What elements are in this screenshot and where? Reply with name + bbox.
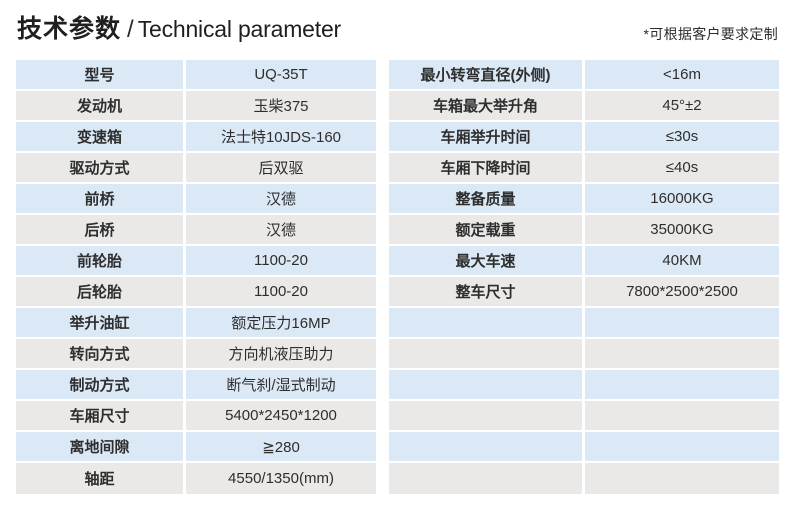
table-row: 额定载重35000KG	[389, 215, 779, 246]
table-row: 转向方式方向机液压助力	[16, 339, 376, 370]
spec-value-cell: 7800*2500*2500	[585, 277, 779, 308]
spec-label-cell: 离地间隙	[16, 432, 186, 463]
spec-value-cell: 断气刹/湿式制动	[186, 370, 376, 401]
spec-value-cell: 5400*2450*1200	[186, 401, 376, 432]
spec-label-cell: 最大车速	[389, 246, 585, 277]
table-row: 变速箱法士特10JDS-160	[16, 122, 376, 153]
spec-value-cell: 40KM	[585, 246, 779, 277]
table-row	[389, 339, 779, 370]
table-row: 驱动方式后双驱	[16, 153, 376, 184]
spec-label-cell: 转向方式	[16, 339, 186, 370]
table-row: 最小转弯直径(外侧)<16m	[389, 60, 779, 91]
spec-table-right: 最小转弯直径(外侧)<16m车箱最大举升角45°±2车厢举升时间≤30s车厢下降…	[389, 60, 779, 494]
spec-value-cell: 45°±2	[585, 91, 779, 122]
spec-label-cell	[389, 432, 585, 463]
spec-value-cell	[585, 370, 779, 401]
spec-value-cell: 1100-20	[186, 277, 376, 308]
table-row: 制动方式断气刹/湿式制动	[16, 370, 376, 401]
table-row: 车厢下降时间≤40s	[389, 153, 779, 184]
spec-value-cell	[585, 432, 779, 463]
page-title-english: Technical parameter	[138, 16, 341, 42]
spec-label-cell: 车箱最大举升角	[389, 91, 585, 122]
table-row: 型号UQ-35T	[16, 60, 376, 91]
spec-value-cell	[585, 401, 779, 432]
page-header: 技术参数/Technical parameter *可根据客户要求定制	[0, 0, 800, 58]
table-row: 车箱最大举升角45°±2	[389, 91, 779, 122]
spec-label-cell: 制动方式	[16, 370, 186, 401]
table-row: 前桥汉德	[16, 184, 376, 215]
table-row: 离地间隙≧280	[16, 432, 376, 463]
spec-label-cell: 整备质量	[389, 184, 585, 215]
spec-label-cell: 前轮胎	[16, 246, 186, 277]
spec-label-cell: 轴距	[16, 463, 186, 494]
spec-value-cell: <16m	[585, 60, 779, 91]
spec-value-cell: 汉德	[186, 215, 376, 246]
spec-label-cell: 后轮胎	[16, 277, 186, 308]
spec-value-cell	[585, 308, 779, 339]
spec-label-cell	[389, 401, 585, 432]
table-row: 整备质量16000KG	[389, 184, 779, 215]
spec-label-cell: 车厢尺寸	[16, 401, 186, 432]
customization-note: *可根据客户要求定制	[644, 24, 778, 44]
spec-value-cell: 1100-20	[186, 246, 376, 277]
table-row	[389, 401, 779, 432]
spec-value-cell: ≧280	[186, 432, 376, 463]
table-row: 最大车速40KM	[389, 246, 779, 277]
spec-label-cell	[389, 370, 585, 401]
spec-label-cell	[389, 339, 585, 370]
spec-label-cell: 车厢下降时间	[389, 153, 585, 184]
spec-table-left: 型号UQ-35T发动机玉柴375变速箱法士特10JDS-160驱动方式后双驱前桥…	[16, 60, 376, 494]
spec-label-cell: 额定载重	[389, 215, 585, 246]
table-row	[389, 308, 779, 339]
page-title-chinese: 技术参数	[17, 15, 121, 43]
table-row	[389, 370, 779, 401]
table-row: 发动机玉柴375	[16, 91, 376, 122]
table-row	[389, 463, 779, 494]
spec-value-cell: ≤40s	[585, 153, 779, 184]
table-row: 车厢举升时间≤30s	[389, 122, 779, 153]
spec-label-cell: 型号	[16, 60, 186, 91]
spec-label-cell: 最小转弯直径(外侧)	[389, 60, 585, 91]
table-row: 后轮胎1100-20	[16, 277, 376, 308]
spec-value-cell: 法士特10JDS-160	[186, 122, 376, 153]
spec-label-cell: 举升油缸	[16, 308, 186, 339]
spec-value-cell: 额定压力16MP	[186, 308, 376, 339]
spec-label-cell	[389, 308, 585, 339]
spec-value-cell: 35000KG	[585, 215, 779, 246]
spec-value-cell	[585, 463, 779, 494]
spec-value-cell	[585, 339, 779, 370]
spec-value-cell: ≤30s	[585, 122, 779, 153]
spec-label-cell: 车厢举升时间	[389, 122, 585, 153]
table-row: 轴距4550/1350(mm)	[16, 463, 376, 494]
table-row: 整车尺寸7800*2500*2500	[389, 277, 779, 308]
spec-label-cell: 前桥	[16, 184, 186, 215]
table-row: 举升油缸额定压力16MP	[16, 308, 376, 339]
spec-label-cell: 后桥	[16, 215, 186, 246]
spec-label-cell: 整车尺寸	[389, 277, 585, 308]
spec-label-cell: 发动机	[16, 91, 186, 122]
table-row	[389, 432, 779, 463]
table-row: 前轮胎1100-20	[16, 246, 376, 277]
spec-label-cell: 变速箱	[16, 122, 186, 153]
table-row: 后桥汉德	[16, 215, 376, 246]
table-row: 车厢尺寸5400*2450*1200	[16, 401, 376, 432]
spec-value-cell: 后双驱	[186, 153, 376, 184]
spec-label-cell	[389, 463, 585, 494]
spec-value-cell: 方向机液压助力	[186, 339, 376, 370]
technical-parameter-page: 技术参数/Technical parameter *可根据客户要求定制 型号UQ…	[0, 0, 800, 517]
spec-label-cell: 驱动方式	[16, 153, 186, 184]
spec-value-cell: UQ-35T	[186, 60, 376, 91]
page-title-separator: /	[121, 16, 138, 43]
spec-value-cell: 16000KG	[585, 184, 779, 215]
spec-value-cell: 玉柴375	[186, 91, 376, 122]
page-title: 技术参数/Technical parameter	[17, 13, 341, 49]
spec-value-cell: 4550/1350(mm)	[186, 463, 376, 494]
spec-value-cell: 汉德	[186, 184, 376, 215]
spec-tables-container: 型号UQ-35T发动机玉柴375变速箱法士特10JDS-160驱动方式后双驱前桥…	[0, 58, 800, 503]
